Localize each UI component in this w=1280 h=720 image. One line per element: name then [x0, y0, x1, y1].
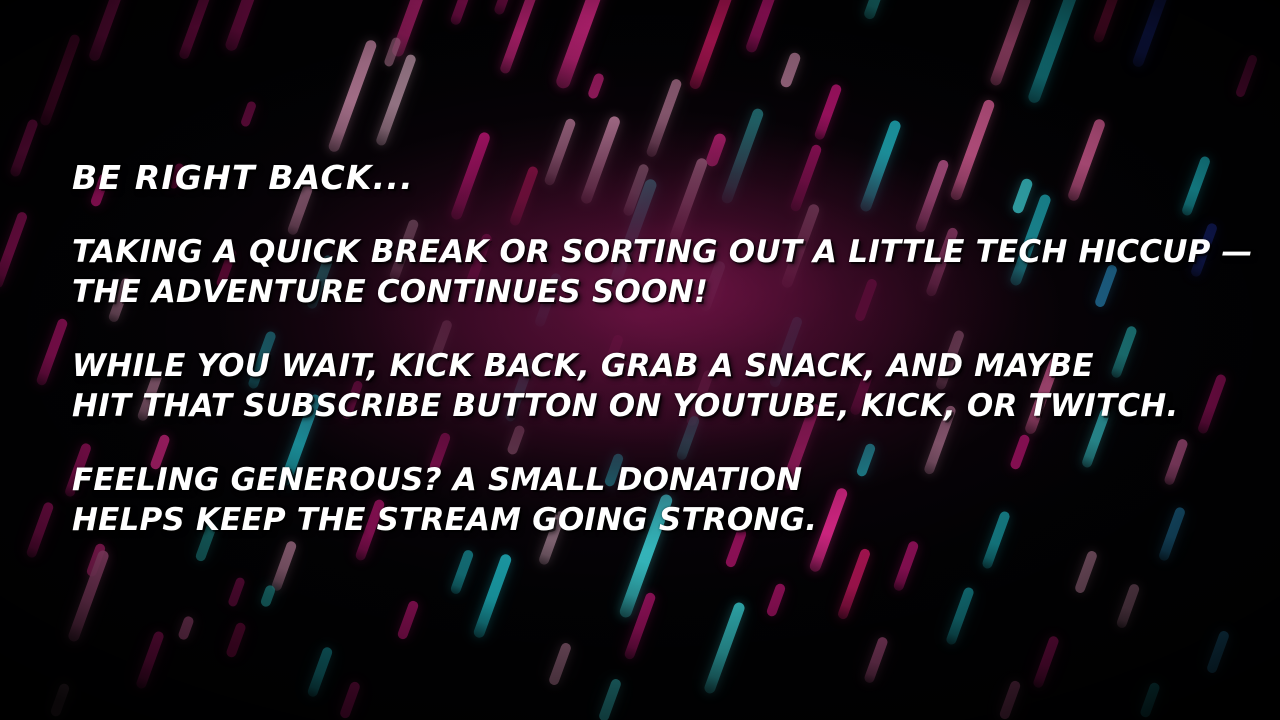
- paragraph-line: FEELING GENEROUS? A SMALL DONATION: [72, 460, 1232, 500]
- paragraph-subscribe-prompt: WHILE YOU WAIT, KICK BACK, GRAB A SNACK,…: [72, 346, 1232, 426]
- paragraph-line: TAKING A QUICK BREAK OR SORTING OUT A LI…: [72, 232, 1232, 272]
- brb-title: BE RIGHT BACK...: [72, 158, 1232, 198]
- paragraph-line: HIT THAT SUBSCRIBE BUTTON ON YOUTUBE, KI…: [72, 386, 1232, 426]
- brb-screen: BE RIGHT BACK... TAKING A QUICK BREAK OR…: [0, 0, 1280, 720]
- paragraph-line: THE ADVENTURE CONTINUES SOON!: [72, 272, 1232, 312]
- paragraph-donation-prompt: FEELING GENEROUS? A SMALL DONATION HELPS…: [72, 460, 1232, 540]
- paragraph-line: WHILE YOU WAIT, KICK BACK, GRAB A SNACK,…: [72, 346, 1232, 386]
- paragraph-line: HELPS KEEP THE STREAM GOING STRONG.: [72, 500, 1232, 540]
- paragraph-break-notice: TAKING A QUICK BREAK OR SORTING OUT A LI…: [72, 232, 1232, 312]
- message-text-block: BE RIGHT BACK... TAKING A QUICK BREAK OR…: [72, 158, 1232, 540]
